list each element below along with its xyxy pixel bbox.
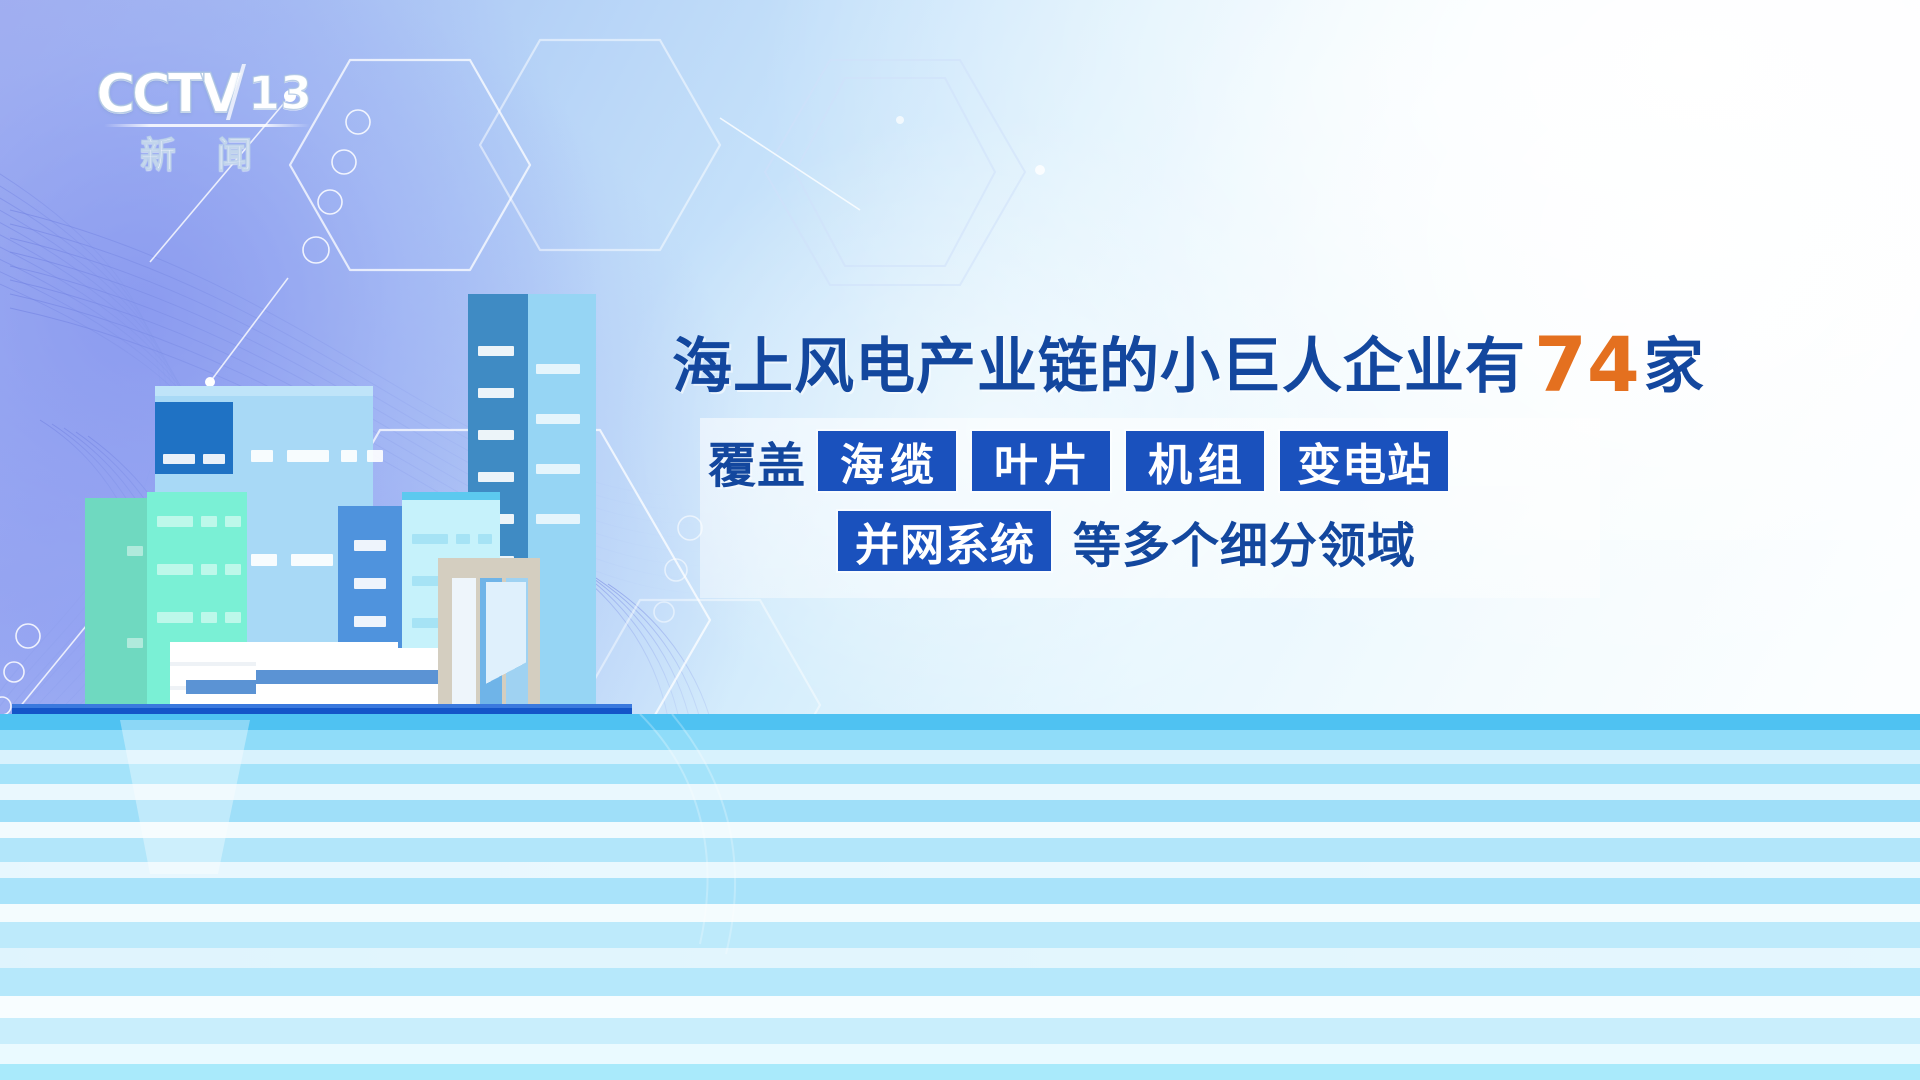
headline-prefix: 海上风电产业链的小巨人企业有 (672, 332, 1526, 402)
tag-yepian[interactable]: 叶片 (972, 431, 1110, 491)
tag-row-secondary: 并网系统 等多个细分领域 (838, 510, 1416, 572)
tag-row-primary: 覆盖 海缆 叶片 机组 变电站 (708, 430, 1464, 492)
headline-number: 74 (1534, 320, 1640, 409)
building-blue-block (155, 402, 233, 474)
headline-text: 海上风电产业链的小巨人企业有74家 (672, 318, 1705, 409)
tag-biandianzhan[interactable]: 变电站 (1280, 431, 1448, 491)
broadcast-graphic-frame: CCTV 13 新 闻 (0, 0, 1920, 1080)
tag-hailan[interactable]: 海缆 (818, 431, 956, 491)
logo-channel-number: 13 (248, 66, 312, 120)
ground-bar-highlight (12, 704, 632, 708)
logo-subtitle: 新 闻 (140, 126, 267, 178)
lead-label: 覆盖 (708, 426, 806, 496)
headline-suffix: 家 (1644, 332, 1705, 402)
building-cyan-cap (402, 492, 500, 500)
tail-label: 等多个细分领域 (1073, 506, 1416, 576)
tag-bingwangxitong[interactable]: 并网系统 (838, 511, 1051, 571)
cctv-logo-icon: CCTV 13 新 闻 (96, 56, 326, 168)
sea-wave-band (0, 714, 1920, 1080)
logo-cctv-text: CCTV (96, 62, 238, 125)
tag-jizu[interactable]: 机组 (1126, 431, 1264, 491)
building-pale-slab-cap (155, 386, 373, 396)
